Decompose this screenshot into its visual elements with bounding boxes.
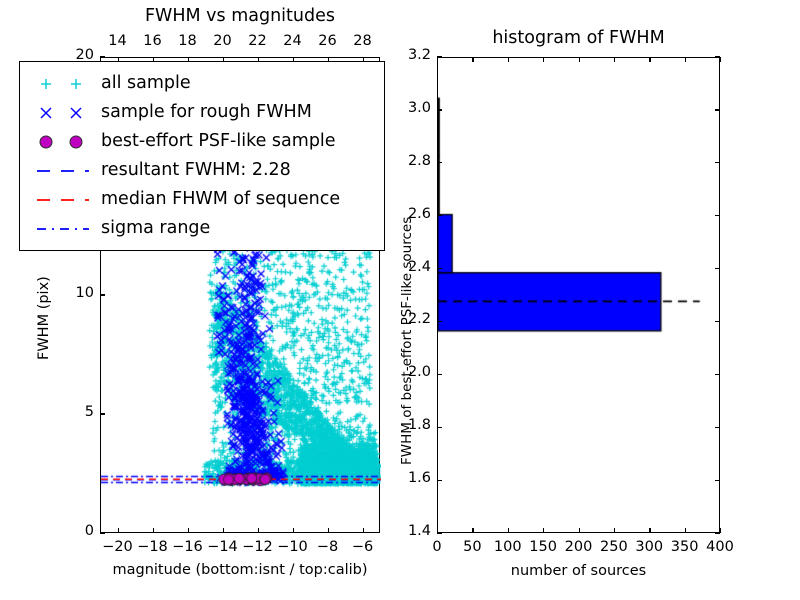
tick-mark (715, 56, 720, 57)
legend-item-label: median FHWM of sequence (99, 191, 340, 209)
legend-dashdot-line-icon (29, 216, 99, 242)
tick-mark (188, 528, 189, 533)
tick-label: 10 (52, 285, 94, 301)
tick-label: 2.0 (389, 364, 431, 380)
tick-mark (508, 57, 509, 62)
tick-mark (100, 294, 105, 295)
tick-mark (437, 480, 442, 481)
tick-mark (715, 321, 720, 322)
tick-mark (100, 413, 105, 414)
tick-label: 3.0 (389, 100, 431, 116)
legend-cross-icon (29, 100, 99, 126)
tick-label: 2.6 (389, 206, 431, 222)
tick-label: 0 (52, 523, 94, 539)
legend-plus-icon (29, 71, 99, 97)
tick-mark (715, 215, 720, 216)
tick-mark (614, 528, 615, 533)
legend-item-label: all sample (99, 75, 191, 93)
tick-mark (720, 57, 721, 62)
tick-mark (437, 268, 442, 269)
tick-mark (685, 528, 686, 533)
tick-mark (685, 57, 686, 62)
tick-mark (472, 528, 473, 533)
scatter-x-axis-label: magnitude (bottom:isnt / top:calib) (80, 562, 400, 578)
tick-mark (715, 427, 720, 428)
tick-label: 28 (341, 33, 385, 49)
tick-label: 2.4 (389, 259, 431, 275)
legend-item-label: best-effort PSF-like sample (99, 133, 336, 151)
tick-mark (715, 480, 720, 481)
tick-mark (258, 528, 259, 533)
tick-label: 2.8 (389, 153, 431, 169)
tick-mark (437, 162, 442, 163)
tick-mark (437, 427, 442, 428)
tick-mark (100, 56, 105, 57)
tick-mark (437, 374, 442, 375)
tick-label: 1.8 (389, 417, 431, 433)
tick-mark (579, 57, 580, 62)
tick-mark (293, 528, 294, 533)
tick-mark (100, 532, 105, 533)
scatter-plot-title: FWHM vs magnitudes (100, 6, 380, 26)
tick-mark (437, 109, 442, 110)
tick-mark (223, 528, 224, 533)
tick-label: 1.6 (389, 470, 431, 486)
histogram-axes (437, 57, 720, 533)
tick-mark (715, 109, 720, 110)
tick-label: −6 (338, 539, 388, 555)
scatter-y-axis-label: FWHM (pix) (36, 276, 52, 360)
legend-item-label: sigma range (99, 220, 210, 238)
tick-mark (715, 162, 720, 163)
tick-mark (715, 374, 720, 375)
tick-mark (472, 57, 473, 62)
tick-label: 1.4 (389, 523, 431, 539)
histogram-x-axis-label: number of sources (437, 563, 720, 579)
tick-mark (715, 268, 720, 269)
tick-mark (543, 528, 544, 533)
tick-label: 400 (695, 539, 745, 555)
tick-mark (720, 528, 721, 533)
tick-mark (508, 528, 509, 533)
histogram-title: histogram of FWHM (437, 28, 720, 48)
tick-mark (614, 57, 615, 62)
tick-mark (363, 528, 364, 533)
tick-mark (437, 532, 442, 533)
histogram-data-area (438, 58, 721, 534)
legend-item[interactable]: sample for rough FWHM (20, 98, 384, 127)
tick-mark (715, 532, 720, 533)
legend-item[interactable]: all sample (20, 69, 384, 98)
legend-box: all samplesample for rough FWHMbest-effo… (19, 61, 385, 251)
tick-mark (649, 57, 650, 62)
legend-circle-icon (29, 129, 99, 155)
tick-mark (579, 528, 580, 533)
tick-mark (118, 528, 119, 533)
tick-mark (437, 215, 442, 216)
tick-mark (328, 528, 329, 533)
tick-label: 2.2 (389, 311, 431, 327)
legend-item[interactable]: best-effort PSF-like sample (20, 127, 384, 156)
legend-item-label: resultant FWHM: 2.28 (99, 162, 291, 180)
tick-mark (437, 321, 442, 322)
legend-dashed-line-icon (29, 187, 99, 213)
legend-item[interactable]: resultant FWHM: 2.28 (20, 156, 384, 185)
legend-item-label: sample for rough FWHM (99, 104, 312, 122)
tick-mark (437, 56, 442, 57)
tick-mark (649, 528, 650, 533)
tick-mark (153, 528, 154, 533)
figure-canvas: FWHM vs magnitudes magnitude (bottom:isn… (0, 0, 800, 600)
legend-dashed-line-icon (29, 158, 99, 184)
tick-mark (543, 57, 544, 62)
legend-item[interactable]: sigma range (20, 214, 384, 243)
tick-mark (437, 57, 438, 62)
tick-label: 5 (52, 404, 94, 420)
legend-item[interactable]: median FHWM of sequence (20, 185, 384, 214)
tick-label: 3.2 (389, 47, 431, 63)
